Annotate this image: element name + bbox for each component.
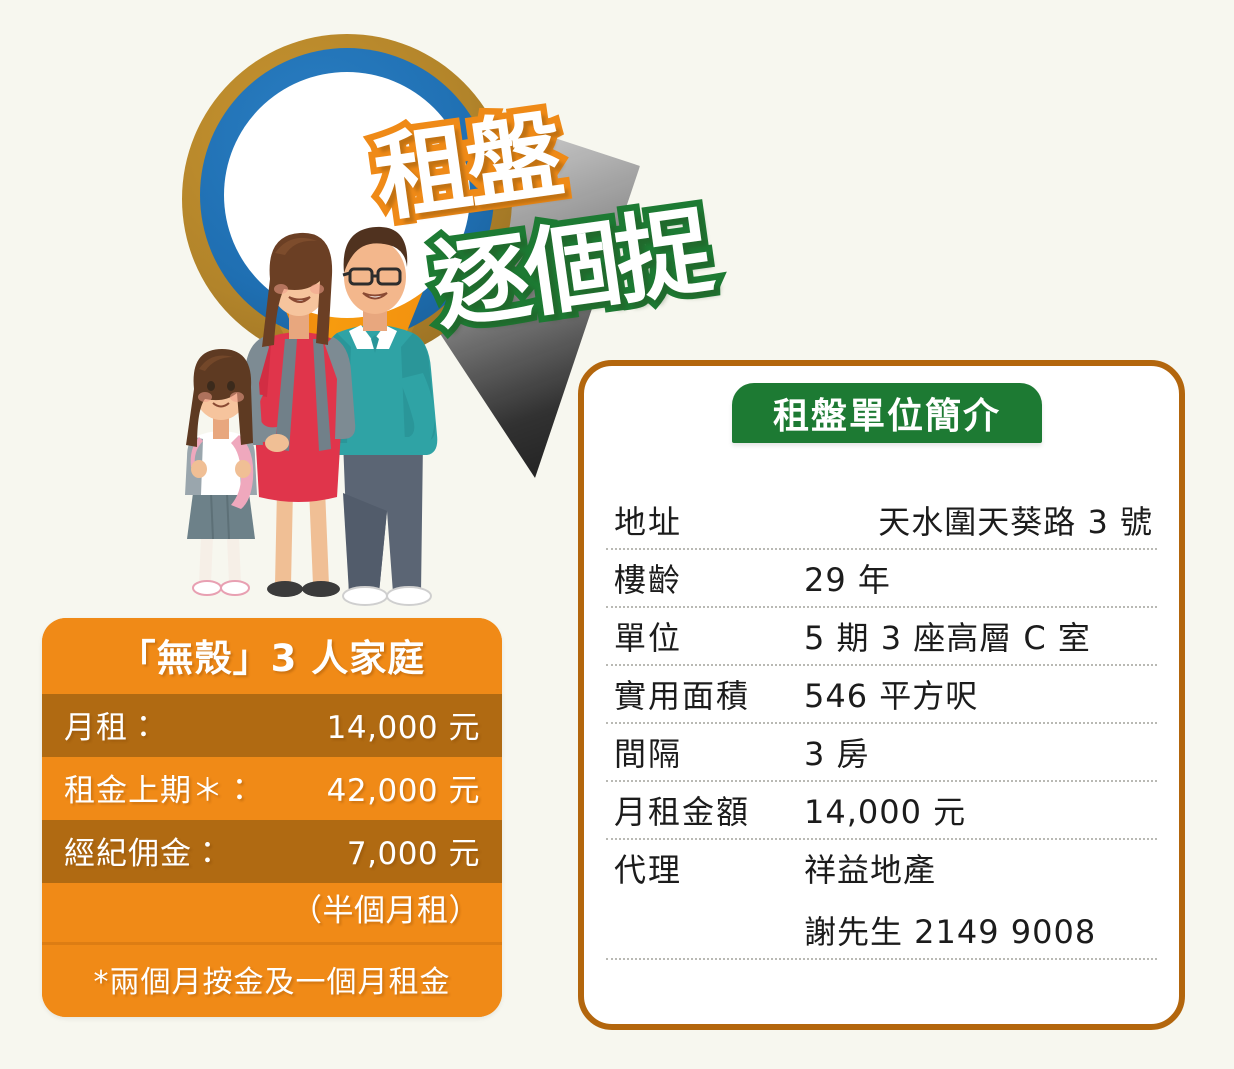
- cost-row-label: 經紀佣金：: [64, 828, 224, 873]
- listing-spec-table: 地址 天水圍天葵路 3 號 樓齡 29 年 單位 5 期 3 座高層 C 室 實…: [606, 492, 1157, 960]
- cost-row-upfront-rent: 租金上期＊： 42,000 元: [42, 757, 502, 820]
- spec-value: 29 年: [804, 555, 1157, 601]
- spec-row-building-age: 樓齡 29 年: [606, 550, 1157, 608]
- cost-row-agent-commission: 經紀佣金： 7,000 元: [42, 820, 502, 883]
- spec-value: 5 期 3 座高層 C 室: [804, 613, 1157, 659]
- spec-value-agency-name: 祥益地產: [804, 851, 936, 889]
- cost-row-value: 7,000 元: [347, 828, 480, 873]
- spec-value: 祥益地產 謝先生 2149 9008: [804, 845, 1157, 953]
- spec-label: 地址: [606, 497, 804, 543]
- cost-row-value: 14,000 元: [327, 702, 480, 747]
- spec-row-agency: 代理 祥益地產 謝先生 2149 9008: [606, 840, 1157, 960]
- cost-row-commission-note: （半個月租）: [42, 883, 502, 942]
- info-card-badge-title: 租盤單位簡介: [732, 383, 1042, 443]
- spec-label: 代理: [606, 845, 804, 891]
- listing-info-card: 租盤單位簡介 地址 天水圍天葵路 3 號 樓齡 29 年 單位 5 期 3 座高…: [578, 360, 1185, 1030]
- cost-row-value: （半個月租）: [291, 885, 480, 930]
- spec-row-unit: 單位 5 期 3 座高層 C 室: [606, 608, 1157, 666]
- spec-value: 3 房: [804, 729, 1157, 775]
- cost-box-heading: 「無殼」3 人家庭: [42, 618, 502, 694]
- spec-value-agency-contact: 謝先生 2149 9008: [804, 907, 1157, 953]
- spec-row-monthly-rent: 月租金額 14,000 元: [606, 782, 1157, 840]
- infographic-canvas: 租盤 逐個捉 「無殼」3 人家庭 月租： 14,000 元 租金上期＊： 42,…: [0, 0, 1234, 1069]
- spec-label: 單位: [606, 613, 804, 659]
- spec-row-address: 地址 天水圍天葵路 3 號: [606, 492, 1157, 550]
- cost-row-monthly-rent: 月租： 14,000 元: [42, 694, 502, 757]
- cost-row-value: 42,000 元: [327, 765, 480, 810]
- cost-row-label: 租金上期＊：: [64, 765, 256, 810]
- spec-row-saleable-area: 實用面積 546 平方呎: [606, 666, 1157, 724]
- spec-value: 14,000 元: [804, 787, 1157, 833]
- spec-value: 546 平方呎: [804, 671, 1157, 717]
- household-cost-box: 「無殼」3 人家庭 月租： 14,000 元 租金上期＊： 42,000 元 經…: [42, 618, 502, 1017]
- spec-label: 間隔: [606, 729, 804, 775]
- spec-label: 實用面積: [606, 671, 804, 717]
- spec-label: 月租金額: [606, 787, 804, 833]
- cost-row-label: 月租：: [64, 702, 160, 747]
- spec-label: 樓齡: [606, 555, 804, 601]
- family-illustration: [165, 193, 465, 623]
- cost-box-footnote: *兩個月按金及一個月租金: [42, 942, 502, 1017]
- spec-row-layout: 間隔 3 房: [606, 724, 1157, 782]
- spec-value: 天水圍天葵路 3 號: [804, 497, 1157, 543]
